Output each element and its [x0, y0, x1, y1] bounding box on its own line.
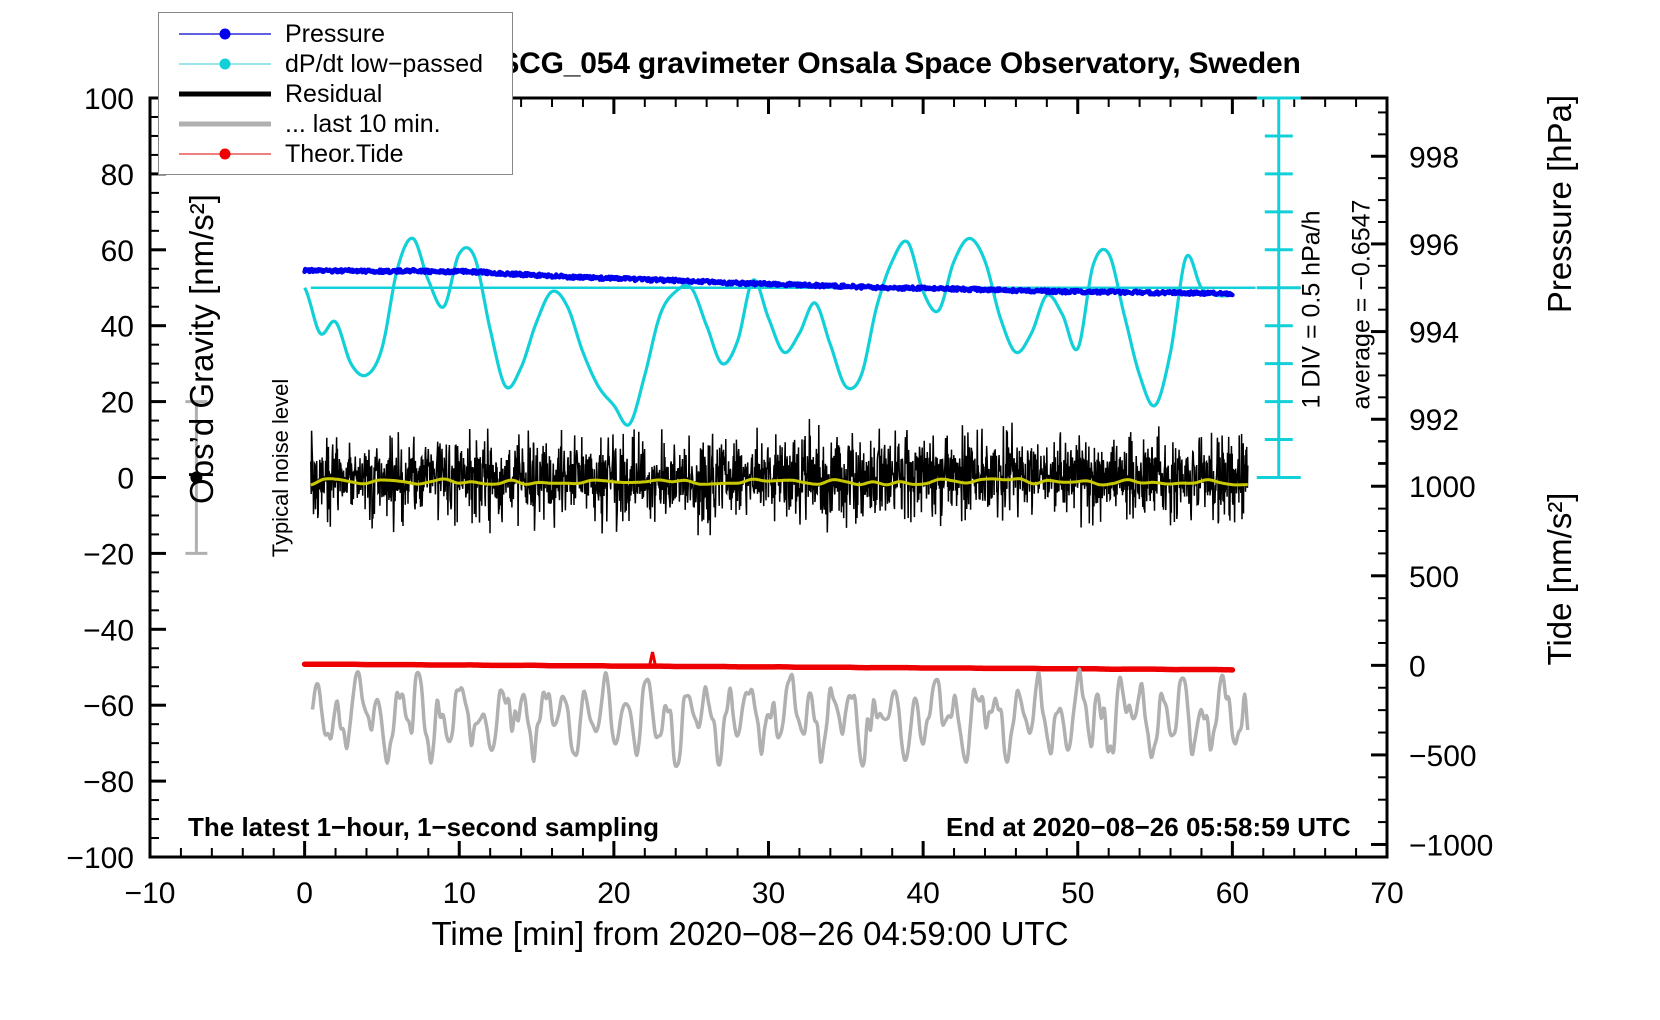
- y-tick-label-left: 100: [84, 83, 134, 116]
- legend-label-pressure: Pressure: [285, 20, 385, 49]
- y-tick-label-left: 40: [101, 311, 134, 344]
- legend-label-dpdt: dP/dt low−passed: [285, 50, 483, 79]
- legend-label-residual: Residual: [285, 80, 382, 109]
- x-tick-label: 10: [443, 877, 476, 910]
- y-tick-label-left: −80: [83, 766, 134, 799]
- legend-item-pressure[interactable]: Pressure: [159, 19, 512, 49]
- series-last-10-min: [312, 669, 1247, 766]
- legend-swatch-residual: [179, 79, 271, 109]
- footer-right-note: End at 2020−08−26 05:58:59 UTC: [946, 812, 1351, 843]
- x-tick-label: −10: [125, 877, 176, 910]
- x-tick-label: 50: [1061, 877, 1094, 910]
- y-tick-label-left: 0: [117, 463, 134, 496]
- x-tick-label: 70: [1370, 877, 1403, 910]
- series-theor-tide: [305, 664, 1233, 670]
- y-tick-label-right-pressure: 992: [1409, 404, 1459, 437]
- series-pressure: [305, 269, 1233, 295]
- page-title: SCG_054 gravimeter Onsala Space Observat…: [400, 47, 1400, 81]
- y-tick-label-right-tide: −1000: [1409, 829, 1493, 862]
- y-tick-label-right-pressure: 996: [1409, 229, 1459, 262]
- x-tick-label: 30: [752, 877, 785, 910]
- y-tick-label-left: 60: [101, 235, 134, 268]
- series-dpdt-lowpassed: [305, 238, 1233, 425]
- y-axis-label-left: Obs’d Gravity [nm/s²]: [183, 139, 221, 559]
- legend-item-residual[interactable]: Residual: [159, 79, 512, 109]
- legend-label-last10: ... last 10 min.: [285, 110, 441, 139]
- y-axis-label-right-pressure: Pressure [hPa]: [1541, 44, 1579, 364]
- y-tick-label-left: −20: [83, 538, 134, 571]
- y-tick-label-left: 20: [101, 387, 134, 420]
- y-tick-label-right-tide: 500: [1409, 561, 1459, 594]
- legend-label-tide: Theor.Tide: [285, 140, 404, 169]
- legend-item-last10[interactable]: ... last 10 min.: [159, 109, 512, 139]
- figure-root: SCG_054 gravimeter Onsala Space Observat…: [0, 0, 1660, 1020]
- y-tick-label-left: −100: [66, 842, 134, 875]
- x-tick-label: 60: [1216, 877, 1249, 910]
- y-tick-label-right-pressure: 994: [1409, 317, 1459, 350]
- legend-item-dpdt[interactable]: dP/dt low−passed: [159, 49, 512, 79]
- legend-swatch-dpdt: [179, 49, 271, 79]
- y-tick-label-right-tide: −500: [1409, 740, 1477, 773]
- legend-item-tide[interactable]: Theor.Tide: [159, 139, 512, 169]
- average-label: average = −0.6547: [1348, 210, 1377, 410]
- y-tick-label-left: −60: [83, 690, 134, 723]
- y-tick-label-right-pressure: 998: [1409, 141, 1459, 174]
- y-tick-label-left: 80: [101, 159, 134, 192]
- typical-noise-level-label: Typical noise level: [268, 368, 294, 568]
- x-tick-label: 40: [906, 877, 939, 910]
- y-tick-label-right-tide: 0: [1409, 650, 1426, 683]
- div-scale-label: 1 DIV = 0.5 hPa/h: [1298, 210, 1327, 410]
- legend-swatch-pressure: [179, 19, 271, 49]
- x-tick-label: 20: [597, 877, 630, 910]
- legend-swatch-tide: [179, 139, 271, 169]
- legend: Pressure dP/dt low−passed Residual ... l…: [158, 12, 513, 175]
- footer-left-note: The latest 1−hour, 1−second sampling: [188, 812, 659, 843]
- y-tick-label-left: −40: [83, 614, 134, 647]
- legend-swatch-last10: [179, 109, 271, 139]
- y-tick-label-right-tide: 1000: [1409, 471, 1476, 504]
- x-axis-label: Time [min] from 2020−08−26 04:59:00 UTC: [0, 915, 1500, 953]
- x-tick-label: 0: [296, 877, 313, 910]
- y-axis-label-right-tide: Tide [nm/s²]: [1541, 419, 1579, 739]
- series-residual: [311, 419, 1248, 535]
